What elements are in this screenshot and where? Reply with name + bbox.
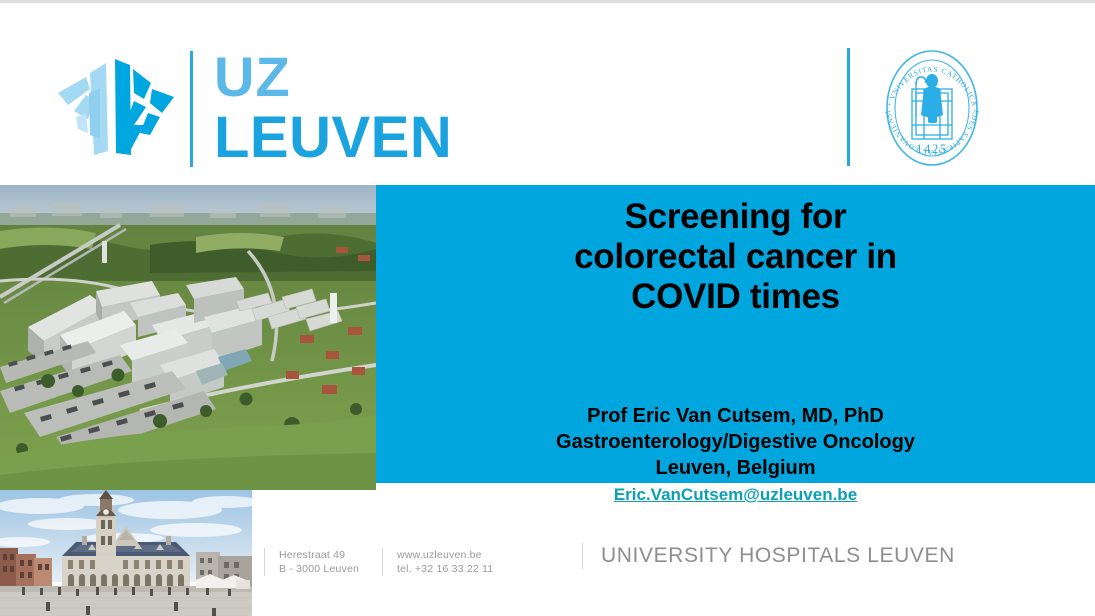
uz-leuven-wordmark: UZ LEUVEN	[214, 47, 544, 171]
footer-telephone: tel. +32 16 33 22 11	[397, 562, 582, 576]
title-banner: Screening for colorectal cancer in COVID…	[376, 185, 1095, 483]
title-slide: UZ LEUVEN + VNIVERSITAS CATHOLICA SEDES …	[0, 0, 1095, 616]
seal-divider	[847, 48, 850, 166]
author-name: Prof Eric Van Cutsem, MD, PhD	[376, 403, 1095, 429]
title-line-2: colorectal cancer in	[376, 237, 1095, 277]
footer-address-line2: B - 3000 Leuven	[279, 562, 382, 576]
author-email-link[interactable]: Eric.VanCutsem@uzleuven.be	[376, 485, 1095, 505]
footer-address-line1: Herestraat 49	[279, 548, 382, 562]
ku-leuven-seal-icon: + VNIVERSITAS CATHOLICA SEDES SAPIENTIAE…	[872, 45, 992, 171]
page-title: Screening for colorectal cancer in COVID…	[376, 197, 1095, 317]
author-block: Prof Eric Van Cutsem, MD, PhD Gastroente…	[376, 403, 1095, 481]
logo-divider	[190, 51, 193, 167]
brand-leuven: LEUVEN	[214, 107, 544, 169]
seal-year: 1425	[916, 142, 947, 156]
author-department: Gastroenterology/Digestive Oncology	[376, 429, 1095, 455]
footer-address: Herestraat 49 B - 3000 Leuven	[264, 548, 382, 576]
title-line-1: Screening for	[376, 197, 1095, 237]
uz-leuven-fan-logo-icon	[56, 55, 176, 167]
author-location: Leuven, Belgium	[376, 455, 1095, 481]
footer-website[interactable]: www.uzleuven.be	[397, 548, 582, 562]
footer-contact: www.uzleuven.be tel. +32 16 33 22 11	[382, 548, 582, 576]
brand-uz: UZ	[214, 47, 544, 107]
campus-aerial-photo	[0, 185, 376, 490]
slide-footer: Herestraat 49 B - 3000 Leuven www.uzleuv…	[264, 548, 955, 576]
title-line-3: COVID times	[376, 277, 1095, 317]
footer-institution-name: UNIVERSITY HOSPITALS LEUVEN	[582, 543, 955, 569]
university-library-photo	[0, 490, 252, 616]
slide-header: UZ LEUVEN + VNIVERSITAS CATHOLICA SEDES …	[0, 3, 1095, 185]
